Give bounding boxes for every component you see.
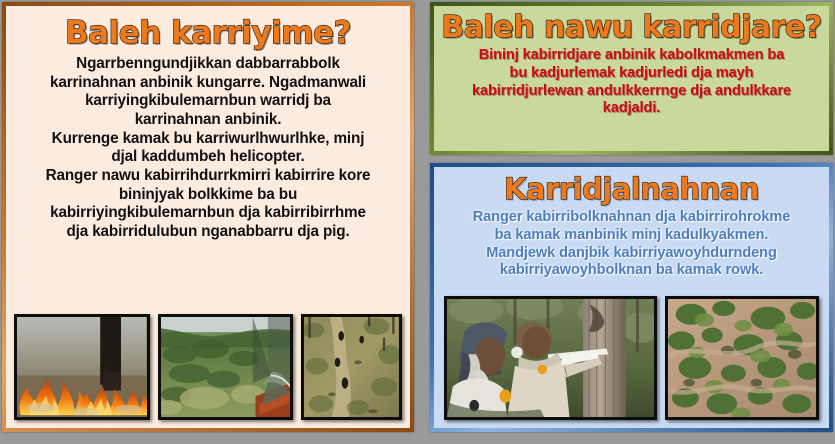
karridjalnahnan-panel: Karridjalnahnan Ranger kabirribolknahnan… — [430, 163, 833, 432]
photo-aerial-regrowth — [665, 296, 819, 420]
poster-canvas: Baleh karriyime? Ngarrbenngundjikkan dab… — [0, 0, 835, 444]
photo-rangers-measuring-tree — [444, 296, 657, 420]
photo-aerial-from-helicopter — [158, 314, 294, 420]
panel-title-baleh-nawu-karridjare: Baleh nawu karridjare? — [441, 13, 821, 43]
panel-title-baleh-karriyime: Baleh karriyime? — [65, 18, 351, 49]
photo-people-on-burnt-hillside — [301, 314, 402, 420]
panel-body-baleh-nawu-karridjare: Bininj kabirridjare anbinik kabolkmakmen… — [472, 47, 791, 118]
baleh-nawu-karridjare-panel: Baleh nawu karridjare? Bininj kabirridja… — [430, 2, 833, 155]
panel-body-baleh-karriyime: Ngarrbenngundjikkan dabbarrabbolk karrin… — [46, 55, 371, 242]
panel-body-karridjalnahnan: Ranger kabirribolknahnan dja kabirrirohr… — [473, 209, 791, 280]
panel-title-karridjalnahnan: Karridjalnahnan — [504, 175, 759, 204]
photo-grass-fire — [14, 314, 150, 420]
photo-row-blue — [440, 296, 823, 420]
photo-row-left — [14, 314, 402, 420]
baleh-karriyime-panel: Baleh karriyime? Ngarrbenngundjikkan dab… — [2, 2, 414, 432]
